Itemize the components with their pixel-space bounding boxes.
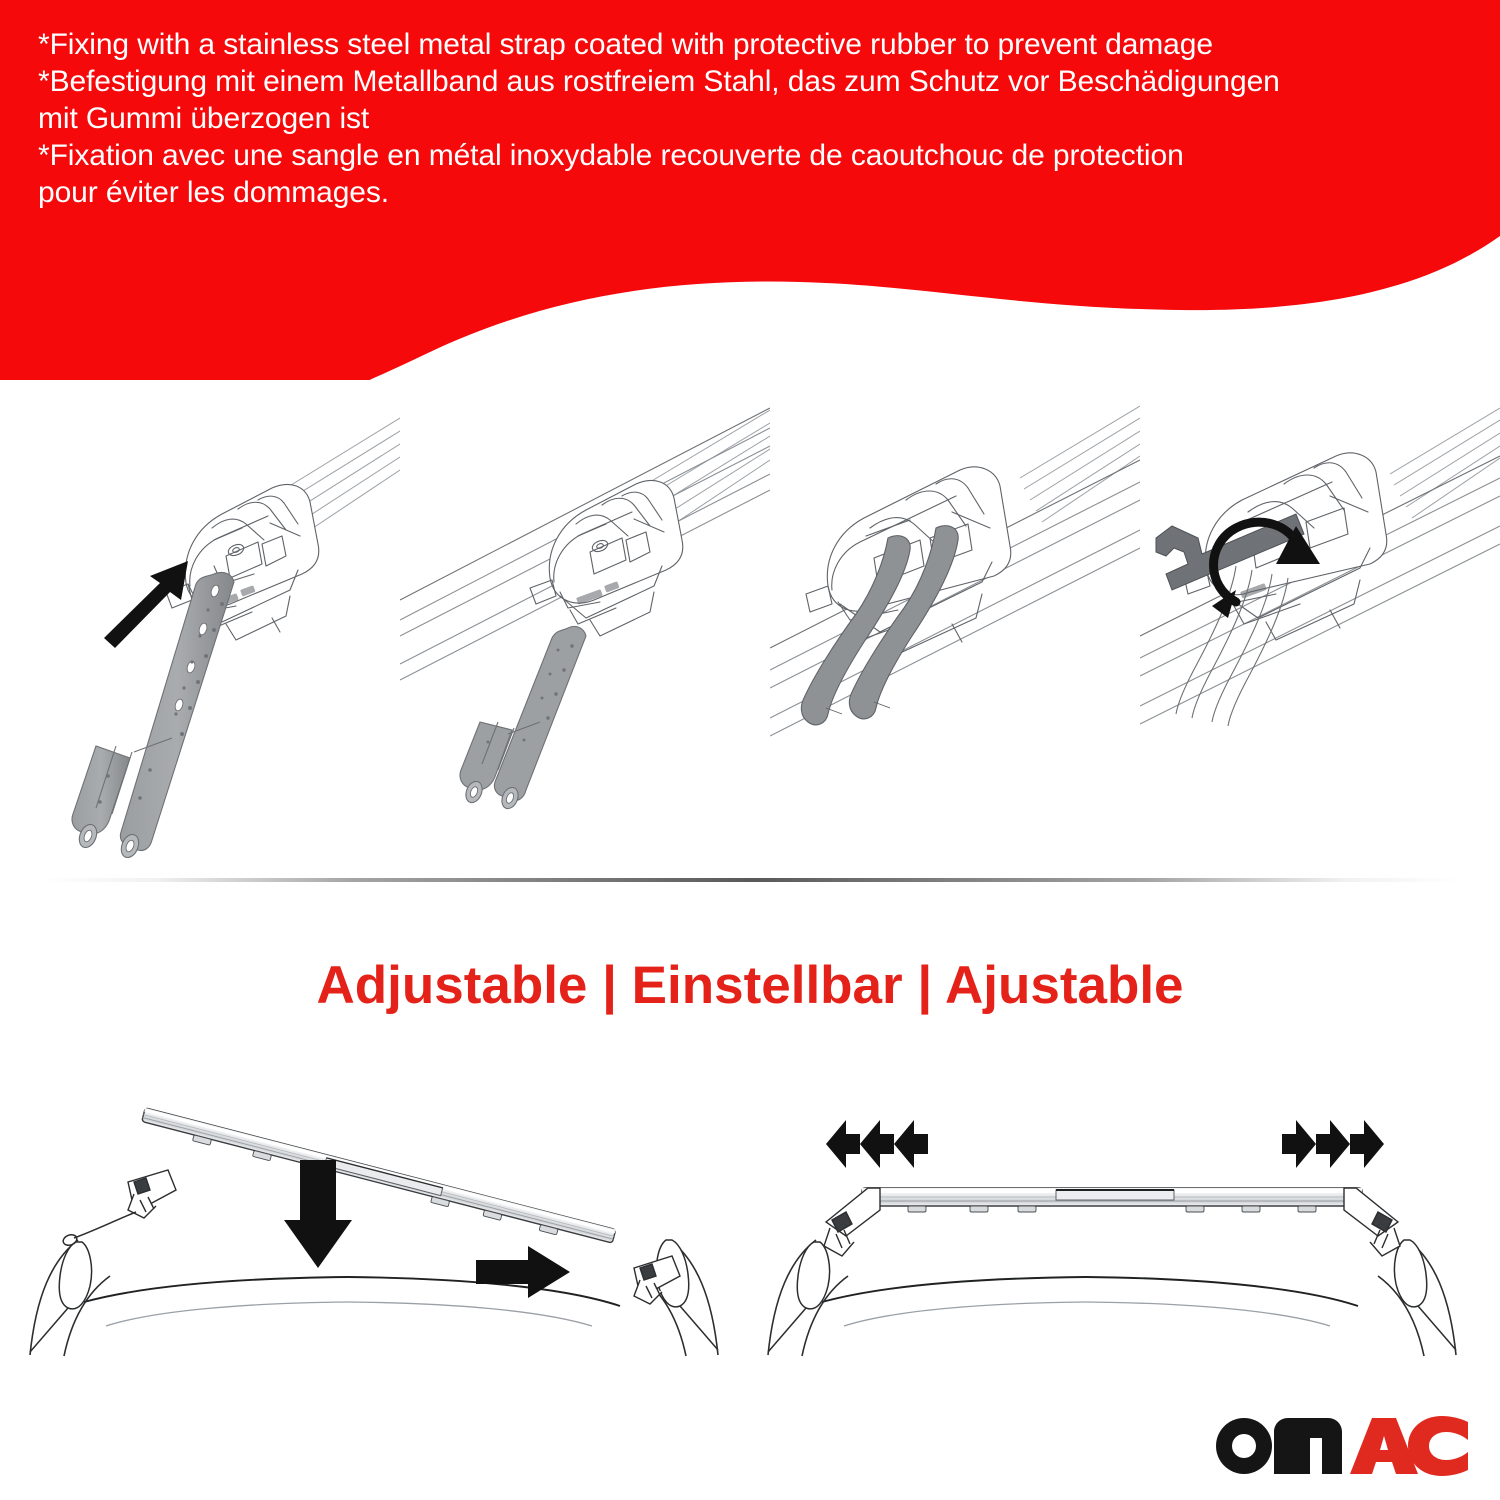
- step-1-insert-strap: [0, 378, 400, 858]
- car-roof-outline: [768, 1240, 1456, 1356]
- car-roof-outline: [30, 1240, 718, 1356]
- metal-strap: [72, 572, 234, 858]
- logo-letter-a: [1350, 1418, 1418, 1474]
- logo-letter-m: [1274, 1418, 1342, 1474]
- adjustable-heading: Adjustable | Einstellbar | Ajustable: [0, 955, 1500, 1016]
- crossbar-foot-right: [1344, 1188, 1400, 1256]
- crossbar: [1020, 406, 1140, 522]
- step-4-illustration: [1140, 378, 1500, 858]
- omac-logo-mark: [1210, 1408, 1470, 1478]
- omac-logo: [1210, 1408, 1470, 1478]
- triple-left-arrow-icon: [826, 1120, 928, 1168]
- adjustable-diagrams-row: [0, 1070, 1500, 1360]
- down-arrow-icon: [284, 1160, 352, 1268]
- crossbar-foot-left: [824, 1188, 880, 1256]
- tether-cable: [62, 1212, 136, 1247]
- adjust-width-illustration: [750, 1070, 1500, 1360]
- step-1-illustration: [0, 378, 400, 858]
- step-2-illustration: [400, 378, 770, 858]
- logo-letter-o: [1216, 1418, 1272, 1474]
- crossbar-foot-left: [128, 1170, 176, 1218]
- step-3-illustration: [770, 378, 1140, 858]
- section-divider: [40, 878, 1460, 882]
- metal-strap: [460, 626, 586, 811]
- mounting-foot: [530, 480, 683, 636]
- right-arrow-icon: [476, 1246, 570, 1298]
- installation-steps-row: [0, 378, 1500, 858]
- adjust-width-diagram: [750, 1070, 1500, 1360]
- crossbar-installed: [824, 1188, 1400, 1256]
- banner-text: *Fixing with a stainless steel metal str…: [38, 26, 1458, 211]
- crossbar: [1390, 408, 1500, 518]
- header-banner: *Fixing with a stainless steel metal str…: [0, 0, 1500, 380]
- mount-crossbar-diagram: [0, 1070, 750, 1360]
- step-2-foot-on-rail: [400, 378, 770, 858]
- step-4-tighten-bolt: [1140, 378, 1500, 858]
- logo-letter-c: [1408, 1416, 1468, 1476]
- up-right-arrow-icon: [104, 561, 188, 648]
- crossbar-tilted: [62, 1108, 680, 1304]
- step-3-strap-wrapped: [770, 378, 1140, 858]
- mount-crossbar-illustration: [0, 1070, 750, 1360]
- triple-right-arrow-icon: [1282, 1120, 1384, 1168]
